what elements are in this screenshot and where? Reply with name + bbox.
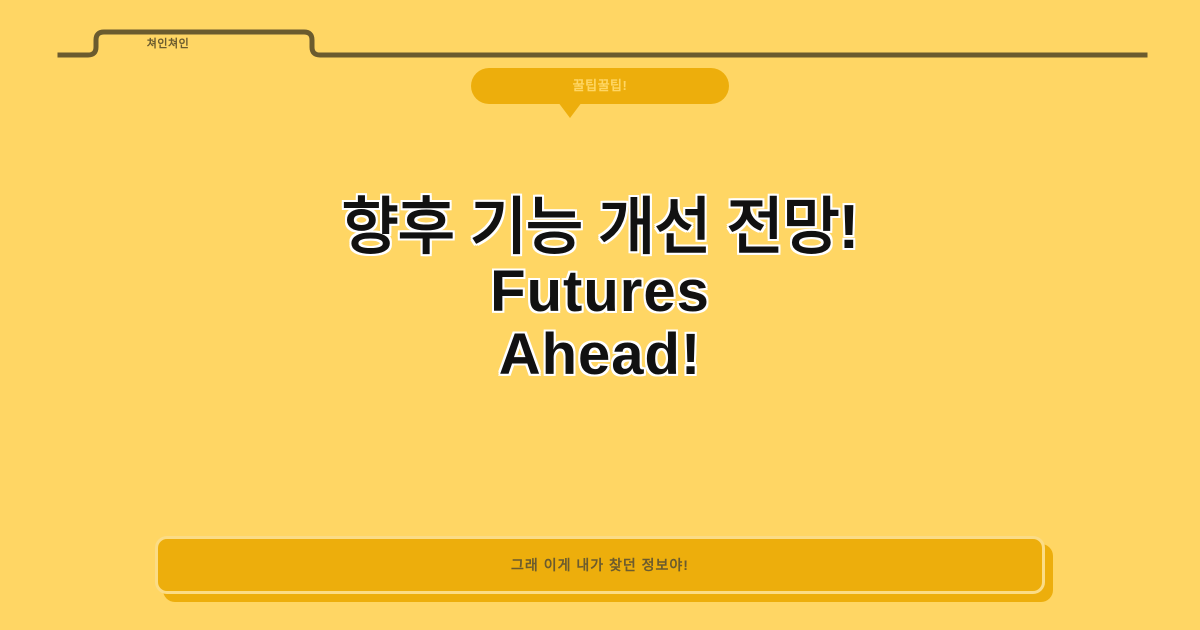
cta-button[interactable]: 그래 이게 내가 찾던 정보야! [155, 536, 1045, 594]
page-title: 향후 기능 개선 전망! Futures Ahead! [0, 196, 1200, 385]
cta-button-label: 그래 이게 내가 찾던 정보야! [511, 555, 689, 575]
speech-bubble-tail-icon [558, 102, 582, 118]
folder-tab-label: 쳐인쳐인 [128, 35, 208, 51]
cta-container: 그래 이게 내가 찾던 정보야! [0, 536, 1200, 594]
speech-bubble: 꿀팁꿀팁! [471, 68, 729, 104]
speech-bubble-text: 꿀팁꿀팁! [527, 78, 673, 94]
cta-button-shadow: 그래 이게 내가 찾던 정보야! [155, 536, 1045, 594]
speech-bubble-container: 꿀팁꿀팁! [0, 68, 1200, 104]
page-title-line-english-1: Futures [0, 262, 1200, 322]
page-title-line-korean: 향후 기능 개선 전망! [0, 196, 1200, 260]
page-title-line-english-2: Ahead! [0, 325, 1200, 385]
folder-tab-bar: 쳐인쳐인 [0, 0, 1200, 70]
